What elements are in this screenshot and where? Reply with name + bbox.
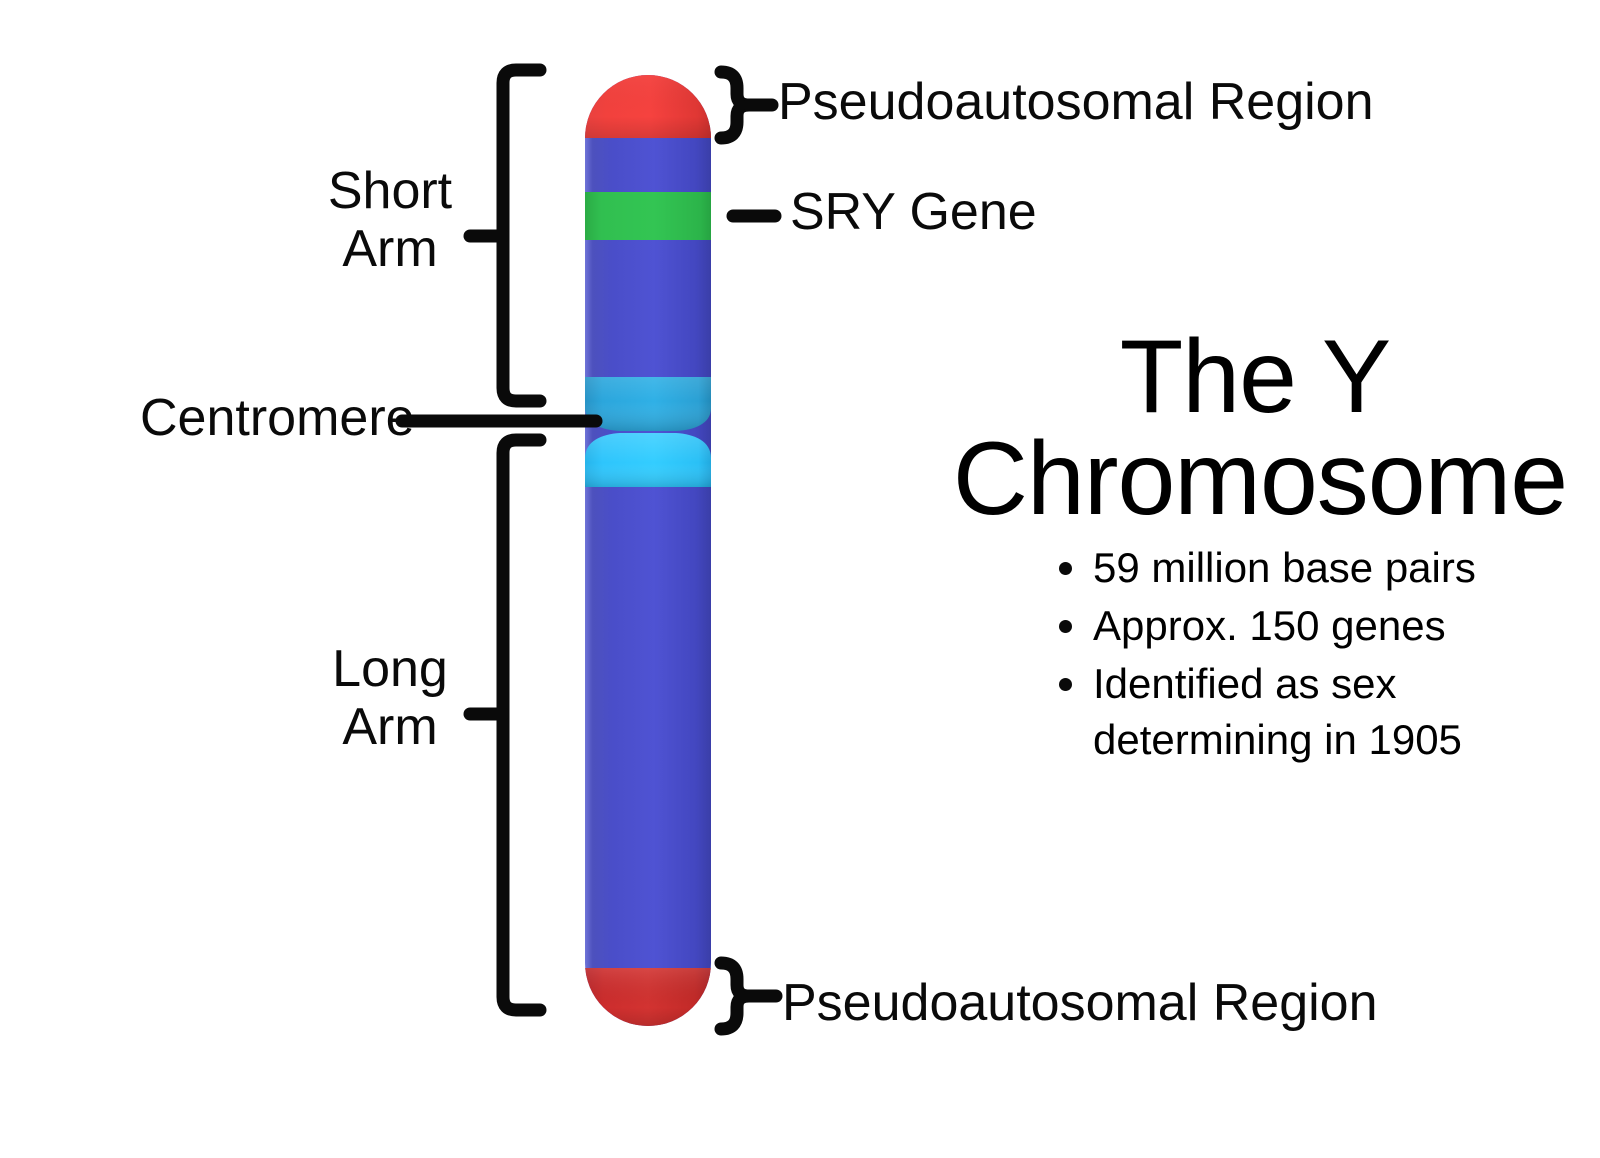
fact-list-item: Approx. 150 genes	[1055, 598, 1525, 654]
bullet-icon	[1059, 620, 1072, 633]
fact-text: Identified as sex determining in 1905	[1093, 656, 1525, 768]
label-sry-gene: SRY Gene	[790, 186, 1037, 238]
label-long-arm: Long Arm	[300, 640, 480, 756]
long-arm-bracket	[503, 440, 540, 1010]
label-short-arm: Short Arm	[300, 162, 480, 278]
fact-list-item: Identified as sex determining in 1905	[1055, 656, 1525, 768]
fact-list: 59 million base pairs Approx. 150 genes …	[1055, 540, 1525, 770]
label-pseudoautosomal-region-bottom: Pseudoautosomal Region	[782, 977, 1378, 1029]
bullet-icon	[1059, 562, 1072, 575]
fact-text: 59 million base pairs	[1093, 540, 1525, 596]
label-centromere: Centromere	[140, 392, 415, 444]
chromosome-body	[583, 66, 713, 1034]
figure-title-line-2: Chromosome	[930, 420, 1590, 539]
label-pseudoautosomal-region-top: Pseudoautosomal Region	[778, 76, 1374, 128]
fact-text: Approx. 150 genes	[1093, 598, 1525, 654]
figure-canvas: The Y Chromosome 59 million base pairs A…	[0, 0, 1600, 1158]
fact-list-item: 59 million base pairs	[1055, 540, 1525, 596]
bullet-icon	[1059, 678, 1072, 691]
sry-band	[583, 192, 713, 240]
